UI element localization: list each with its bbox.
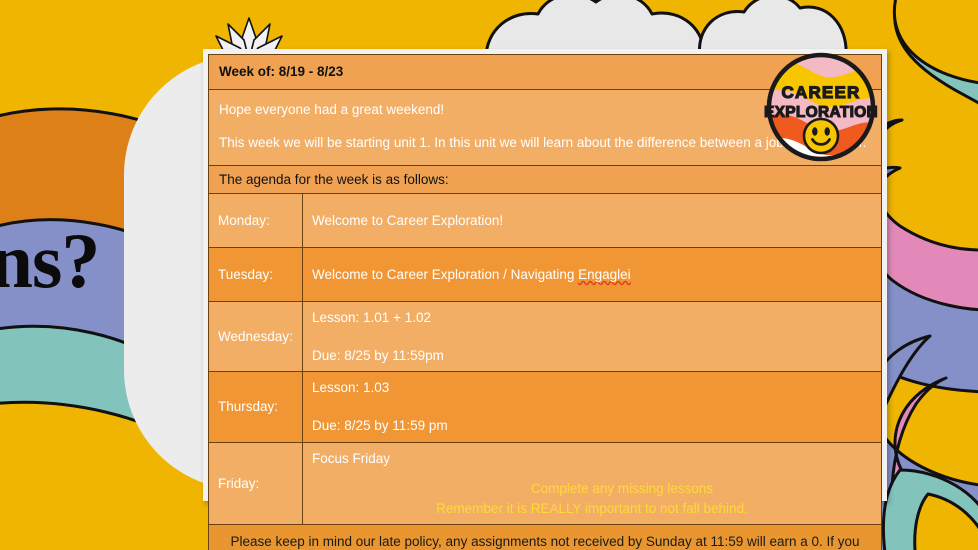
thursday-line-1: Lesson: 1.03 (312, 378, 872, 398)
agenda-lead-in: The agenda for the week is as follows: (209, 165, 882, 194)
friday-reminder: Complete any missing lessons Remember it… (312, 479, 872, 518)
career-exploration-logo: CAREER EXPLORATION (764, 50, 878, 164)
thursday-line-2: Due: 8/25 by 11:59 pm (312, 416, 872, 436)
day-content-thursday: Lesson: 1.03 Due: 8/25 by 11:59 pm (303, 372, 882, 442)
day-label-tuesday: Tuesday: (209, 248, 303, 302)
logo-line-1: CAREER (782, 83, 861, 102)
late-policy-footer: Please keep in mind our late policy, any… (209, 525, 882, 550)
day-label-monday: Monday: (209, 194, 303, 248)
day-content-friday: Focus Friday Complete any missing lesson… (303, 442, 882, 525)
friday-line-1: Focus Friday (312, 449, 872, 469)
friday-note-line-1: Complete any missing lessons (372, 479, 872, 499)
table-row: Thursday: Lesson: 1.03 Due: 8/25 by 11:5… (209, 372, 882, 442)
tuesday-text-prefix: Welcome to Career Exploration / Navigati… (312, 267, 578, 282)
side-heading-text: tions? (0, 222, 99, 300)
table-row: Wednesday: Lesson: 1.01 + 1.02 Due: 8/25… (209, 302, 882, 372)
day-label-wednesday: Wednesday: (209, 302, 303, 372)
table-row-agenda-line: The agenda for the week is as follows: (209, 165, 882, 194)
friday-note-line-2: Remember it is REALLY important to not f… (312, 499, 872, 519)
day-content-monday: Welcome to Career Exploration! (303, 194, 882, 248)
table-row: Friday: Focus Friday Complete any missin… (209, 442, 882, 525)
day-content-wednesday: Lesson: 1.01 + 1.02 Due: 8/25 by 11:59pm (303, 302, 882, 372)
table-row: Monday: Welcome to Career Exploration! (209, 194, 882, 248)
monday-line-1: Welcome to Career Exploration! (312, 211, 872, 231)
wednesday-line-2: Due: 8/25 by 11:59pm (312, 346, 872, 366)
misspelled-word-engaglei: Engaglei (578, 267, 631, 282)
table-row-footer: Please keep in mind our late policy, any… (209, 525, 882, 550)
tuesday-line-1: Welcome to Career Exploration / Navigati… (312, 265, 872, 285)
wednesday-line-1: Lesson: 1.01 + 1.02 (312, 308, 872, 328)
day-content-tuesday: Welcome to Career Exploration / Navigati… (303, 248, 882, 302)
table-row: Tuesday: Welcome to Career Exploration /… (209, 248, 882, 302)
slide-canvas: tions? Week of: 8/19 - 8/23 Hope everyon… (0, 0, 978, 550)
day-label-friday: Friday: (209, 442, 303, 525)
logo-line-2: EXPLORATION (764, 104, 878, 121)
day-label-thursday: Thursday: (209, 372, 303, 442)
